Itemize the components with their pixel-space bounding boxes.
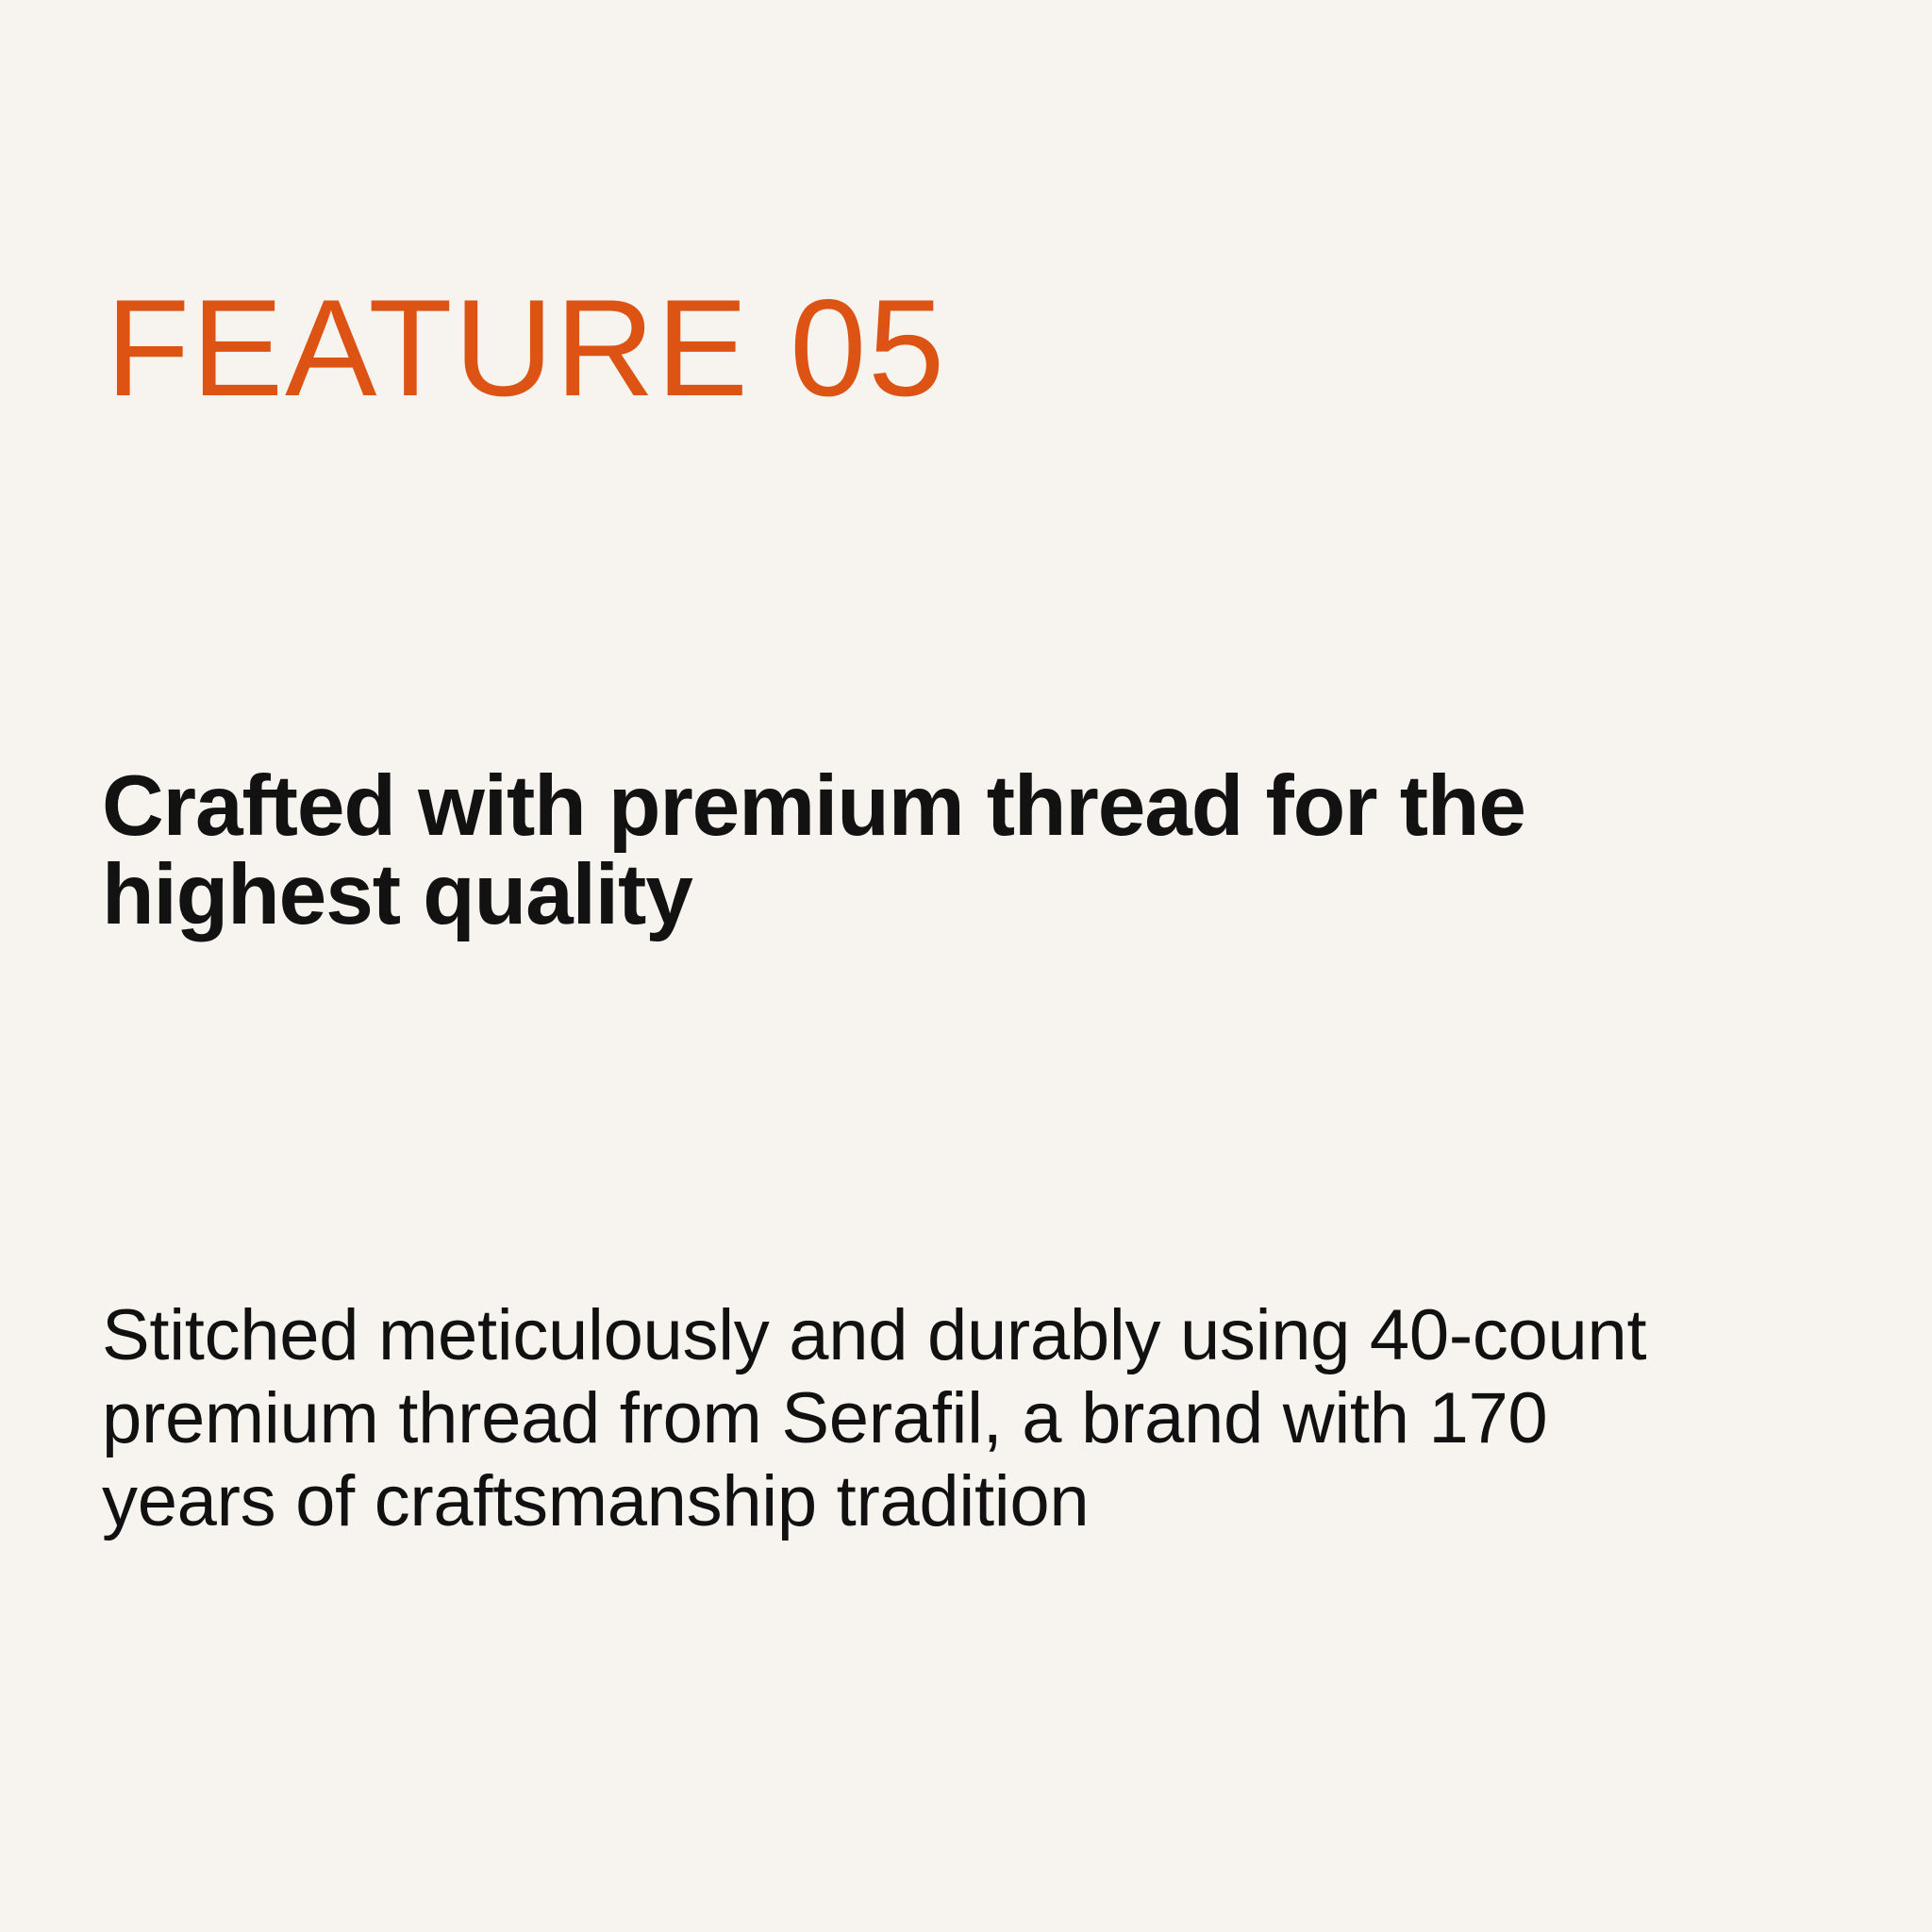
body-line-1: Stitched meticulously and durably using … bbox=[102, 1294, 1894, 1377]
body-line-2: premium thread from Serafil, a brand wit… bbox=[102, 1377, 1894, 1460]
headline-line-2: highest quality bbox=[102, 851, 1649, 940]
feature-headline: Crafted with premium thread for the high… bbox=[102, 762, 1649, 939]
headline-line-1: Crafted with premium thread for the bbox=[102, 762, 1649, 851]
feature-eyebrow-label: FEATURE 05 bbox=[106, 279, 946, 417]
feature-body-text: Stitched meticulously and durably using … bbox=[102, 1294, 1894, 1542]
feature-card: FEATURE 05 Crafted with premium thread f… bbox=[0, 0, 1932, 1932]
body-line-3: years of craftsmanship tradition bbox=[102, 1460, 1894, 1543]
